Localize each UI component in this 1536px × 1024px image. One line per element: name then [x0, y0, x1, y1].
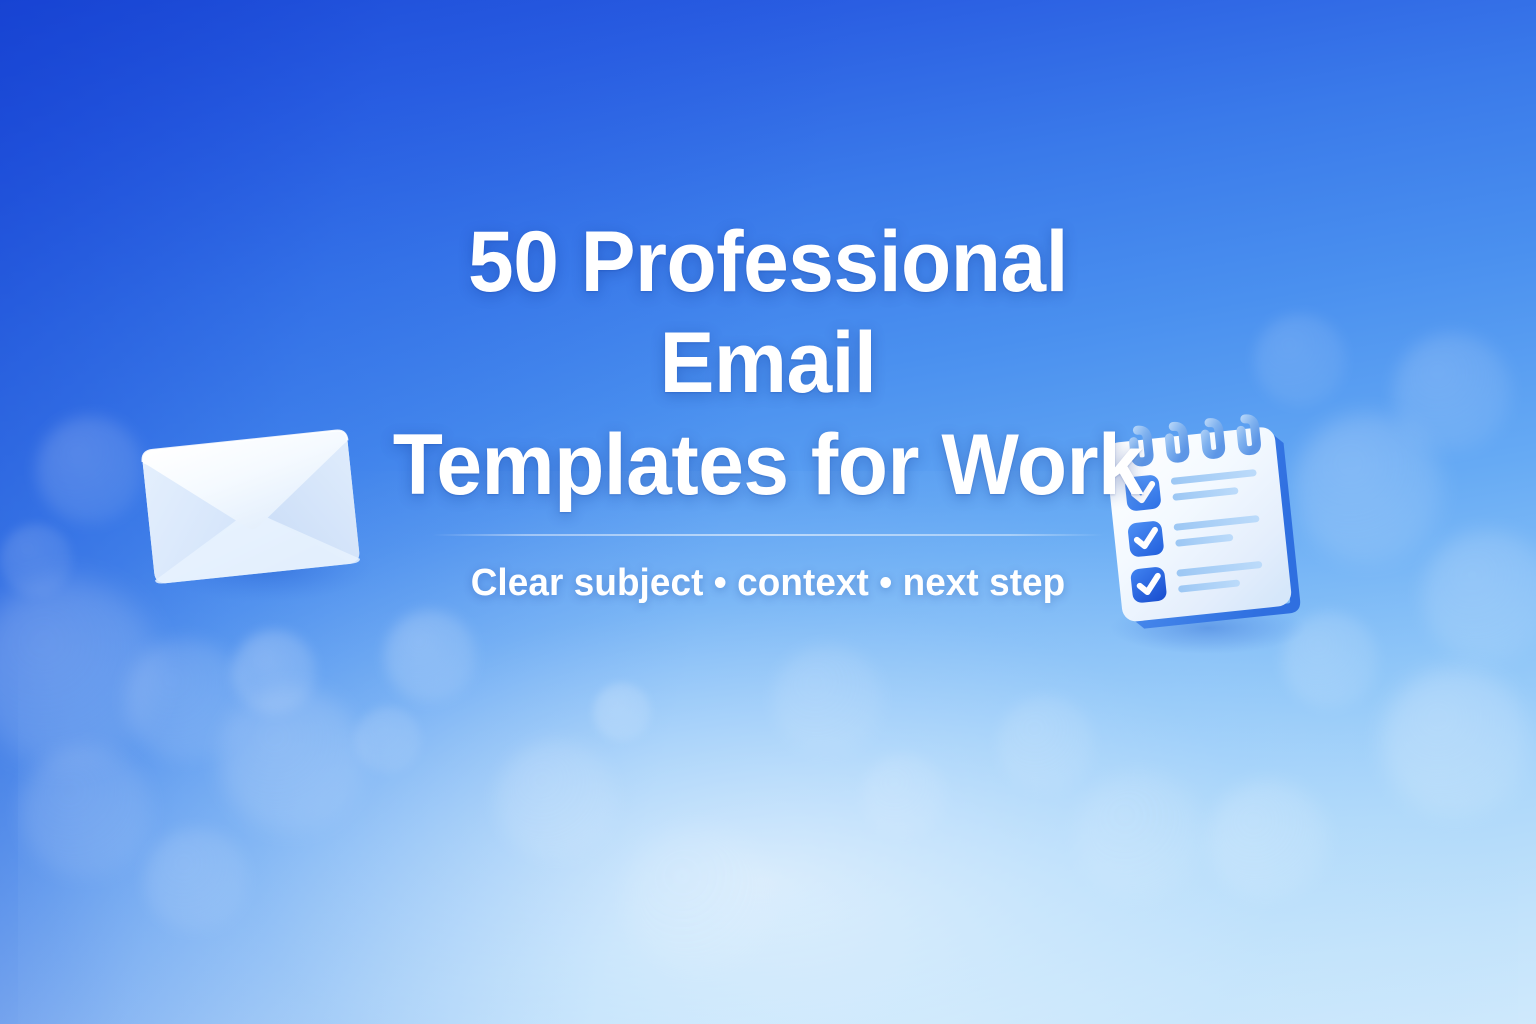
bokeh-circle [862, 754, 946, 838]
bokeh-circle [593, 683, 651, 741]
bokeh-circle [998, 696, 1094, 792]
page-title: 50 Professional Email Templates for Work [376, 212, 1159, 516]
divider [432, 534, 1104, 536]
bokeh-circle [384, 610, 476, 702]
email-templates-banner: 50 Professional Email Templates for Work… [0, 0, 1536, 1024]
page-title-line-1: 50 Professional Email [468, 214, 1068, 411]
bokeh-circle [219, 687, 365, 833]
page-subtitle: Clear subject • context • next step [23, 562, 1513, 605]
bokeh-circle [773, 645, 883, 755]
bokeh-circle [1076, 772, 1204, 900]
bokeh-circle [144, 828, 248, 932]
bokeh-circle [125, 639, 247, 761]
bokeh-circle [496, 740, 616, 860]
bokeh-circle [20, 746, 152, 878]
page-title-line-2: Templates for Work [393, 417, 1144, 513]
bokeh-circle [1381, 667, 1531, 817]
bokeh-circle [625, 825, 775, 975]
bokeh-circle [1208, 780, 1328, 900]
bokeh-circle [232, 630, 316, 714]
hero-text-block: 50 Professional Email Templates for Work… [0, 212, 1536, 605]
bokeh-circle [355, 707, 421, 773]
